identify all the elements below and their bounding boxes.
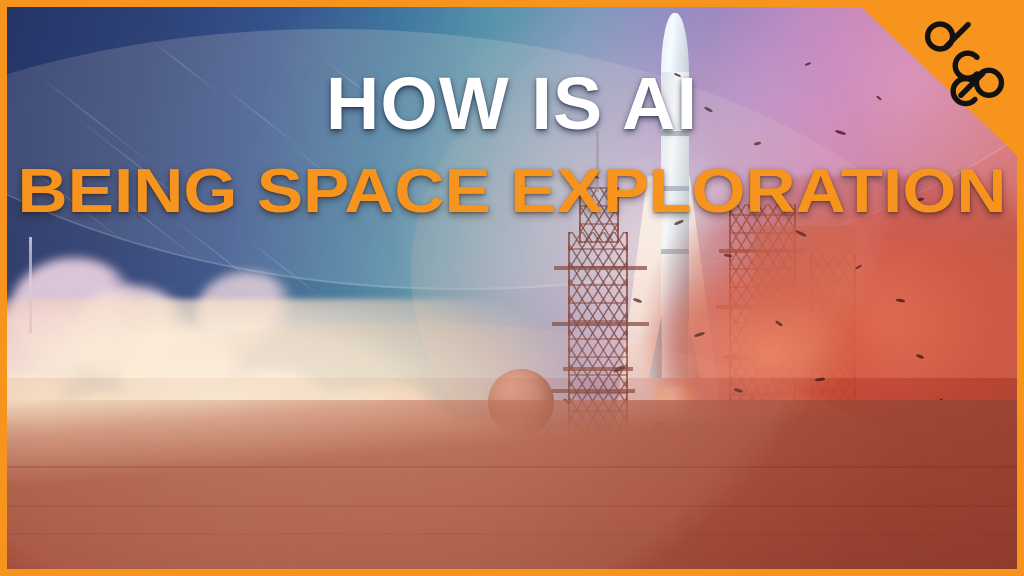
sky-streak [320,56,395,115]
sky-streak [282,140,385,221]
rocket-nose-cone [661,13,689,80]
scene-artwork [7,7,1017,569]
ground-ridge-line [7,505,1017,507]
distant-lightning-mast [29,237,32,333]
sky-streak [144,35,223,97]
sky-streak [32,70,159,169]
ground-dust-haze [7,378,1017,569]
dcp-logo[interactable] [912,10,1016,114]
ground-ridge-line [7,533,1017,535]
sky-streak [220,84,307,153]
ground-ridge-line [7,466,1017,468]
video-thumbnail: HOW IS AI BEING SPACE EXPLORATION [0,0,1024,576]
rocket-band [661,131,689,137]
